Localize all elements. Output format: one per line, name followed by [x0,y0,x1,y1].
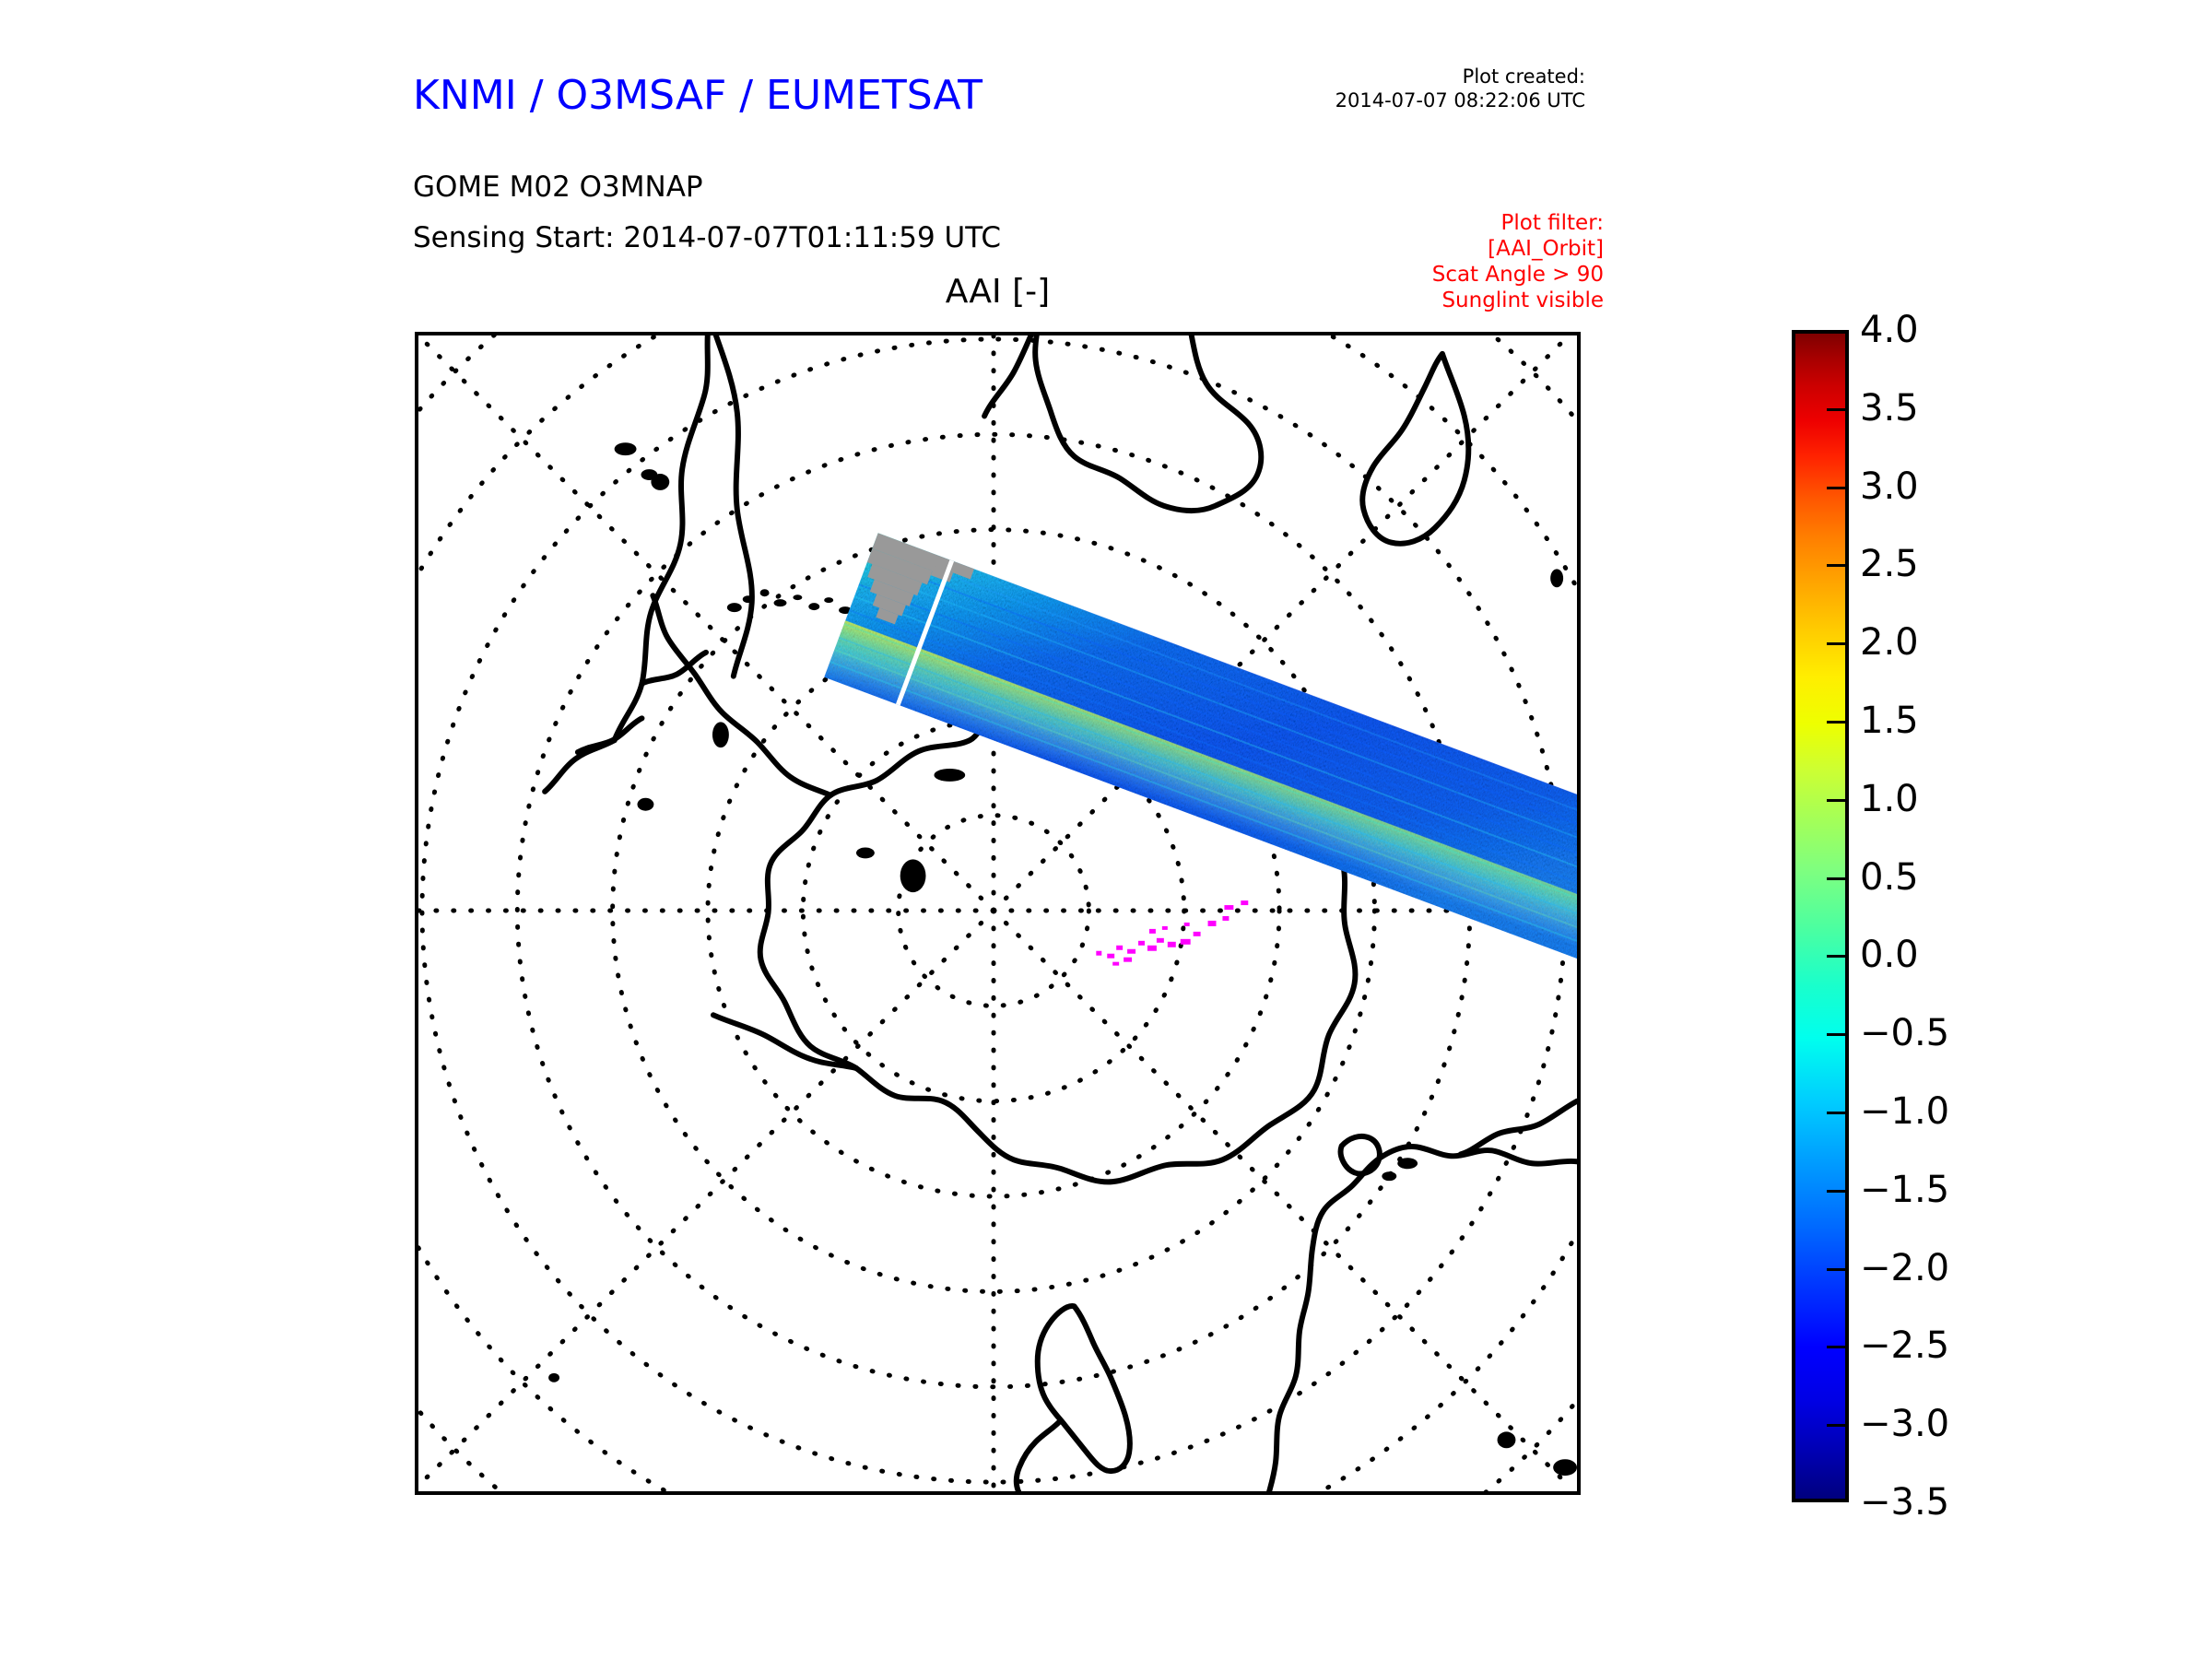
colorbar-tick [1827,1268,1845,1271]
colorbar-tick-label: 2.5 [1860,543,1919,585]
coastline-australia-islands [1382,1158,1418,1181]
colorbar-tick [1827,1112,1845,1114]
plot-filter-line-1: Plot filter: [1286,210,1604,236]
colorbar-tick [1827,487,1845,489]
coastline-tierra-del-fuego [578,718,642,752]
colorbar-tick-label: −0.5 [1860,1012,1949,1054]
coastline-nz-south-island [1038,1306,1130,1471]
sensing-start-line: Sensing Start: 2014-07-07T01:11:59 UTC [413,221,1001,254]
colorbar-tick-label: −3.0 [1860,1403,1949,1445]
plot-filter-annotation: Plot filter: [AAI_Orbit] Scat Angle > 90… [1286,210,1604,313]
colorbar-tick-label: 3.0 [1860,465,1919,508]
colorbar[interactable]: 4.03.53.02.52.01.51.00.50.0−0.5−1.0−1.5−… [1792,330,1849,1502]
plot-filter-line-3: Scat Angle > 90 [1286,262,1604,288]
brand-title: KNMI / O3MSAF / EUMETSAT [413,72,982,119]
coastline-australia-north [1461,1101,1577,1155]
map-canvas [418,335,1577,1491]
plot-created-label: Plot created: [1327,65,1585,88]
colorbar-tick [1827,1033,1845,1036]
plot-created-value: 2014-07-07 08:22:06 UTC [1327,88,1585,112]
sunglint-flagged-pixels [1096,900,1248,966]
colorbar-tick-label: −2.0 [1860,1247,1949,1289]
colorbar-tick [1827,955,1845,958]
colorbar-tick [1827,1346,1845,1348]
plot-created-block: Plot created: 2014-07-07 08:22:06 UTC [1327,65,1585,113]
plot-page: KNMI / O3MSAF / EUMETSAT Plot created: 2… [0,0,2212,1659]
colorbar-tick [1827,799,1845,802]
plot-filter-line-4: Sunglint visible [1286,288,1604,313]
colorbar-tick [1827,1190,1845,1193]
coastlines [545,335,1577,1491]
coastline-southern-africa [1035,335,1261,511]
colorbar-gradient [1792,330,1849,1502]
coastline-australia [1268,1147,1577,1491]
coastline-madagascar [1362,354,1468,544]
colorbar-tick-label: 3.5 [1860,387,1919,429]
colorbar-tick [1827,1424,1845,1427]
colorbar-tick [1827,642,1845,645]
colorbar-tick [1827,408,1845,411]
map-contents [418,335,1577,1491]
colorbar-tick [1827,564,1845,567]
coastline-south-america-south [545,740,615,792]
map-plot-area[interactable] [415,332,1581,1495]
colorbar-tick-label: −1.5 [1860,1169,1949,1211]
colorbar-tick-label: 0.0 [1860,934,1919,976]
colorbar-tick-label: 4.0 [1860,309,1919,351]
colorbar-tick-label: 1.0 [1860,778,1919,820]
coastline-tasmania [1341,1136,1380,1174]
colorbar-tick-label: −1.0 [1860,1090,1949,1133]
plot-filter-line-2: [AAI_Orbit] [1286,236,1604,262]
colorbar-tick-label: −3.5 [1860,1481,1949,1524]
product-line: GOME M02 O3MNAP [413,171,703,204]
graticule-parallels [418,335,1577,1491]
colorbar-tick-label: 2.0 [1860,621,1919,664]
colorbar-tick [1827,721,1845,724]
colorbar-tick [1827,877,1845,880]
colorbar-tick-label: −2.5 [1860,1324,1949,1367]
coastline-indian-ocean-islands [1203,335,1564,587]
coastline-africa-west [984,335,1040,416]
colorbar-tick-label: 0.5 [1860,856,1919,899]
colorbar-tick-label: 1.5 [1860,700,1919,742]
